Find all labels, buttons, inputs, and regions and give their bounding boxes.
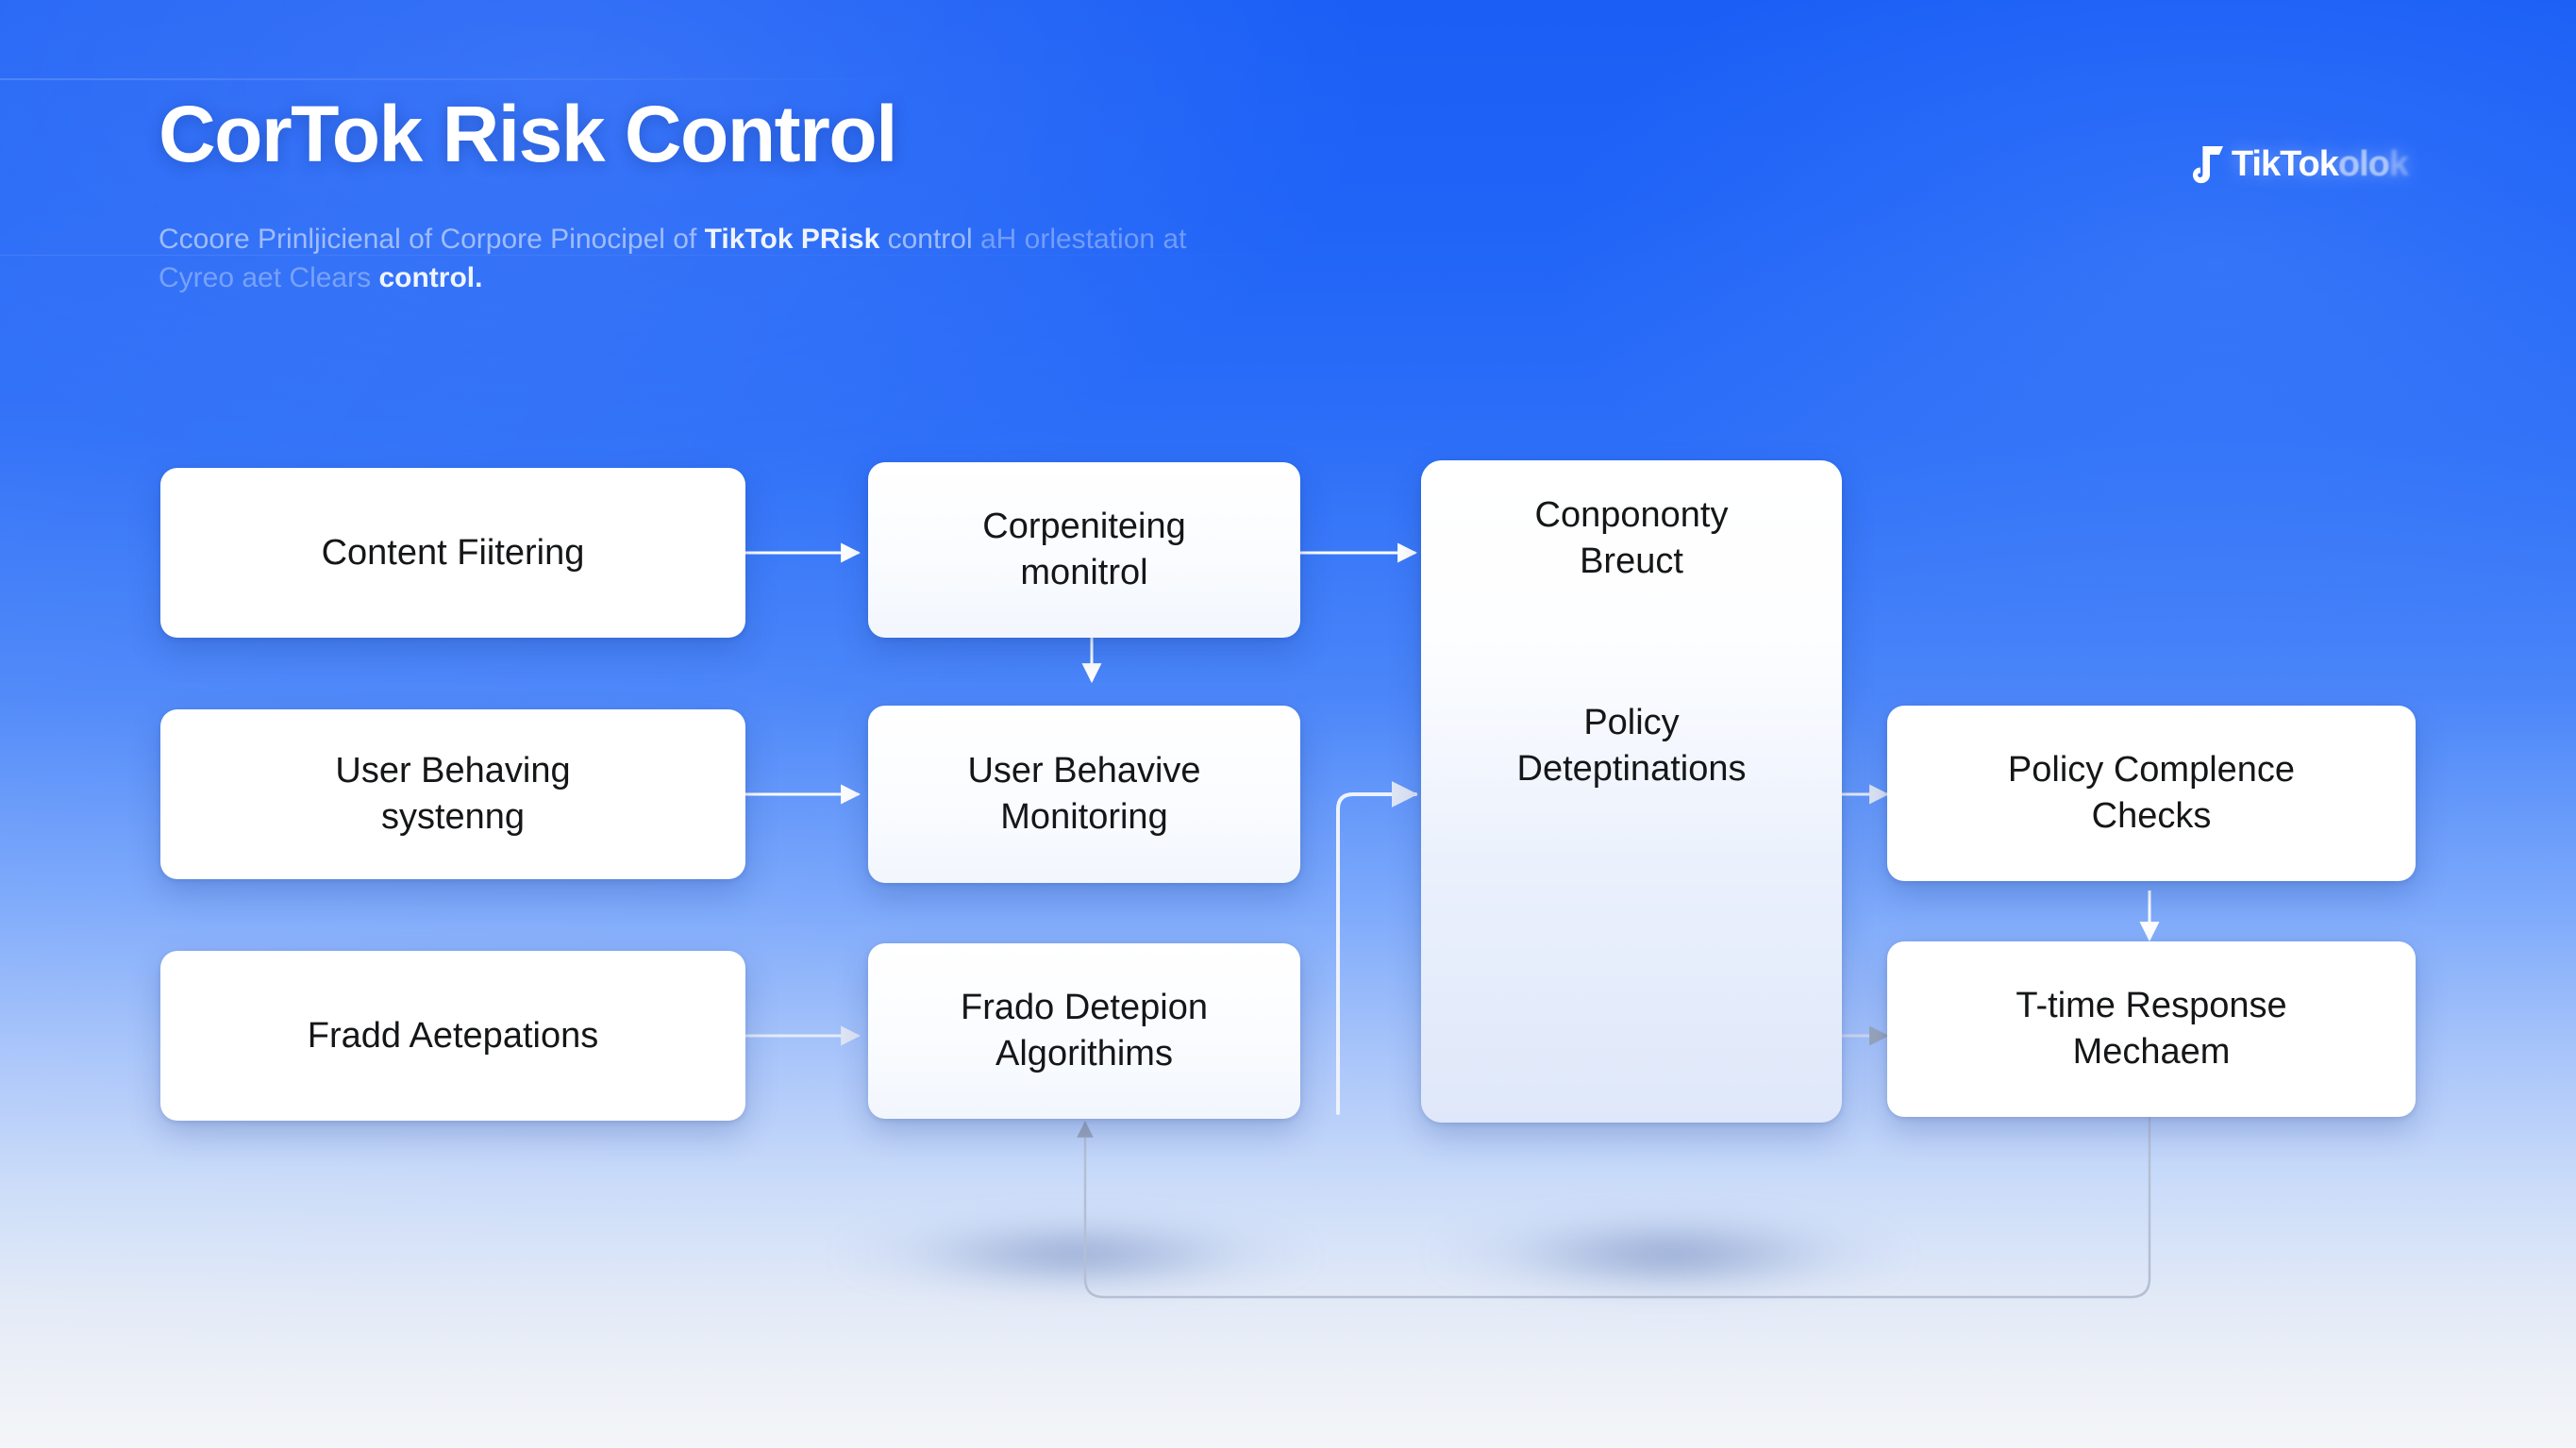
node-fraud-expectations[interactable]: Fradd Aetepations <box>160 951 745 1121</box>
node-label: Policy ComplenceChecks <box>2008 747 2295 839</box>
node-label: User Behavingsystenng <box>335 748 570 840</box>
node-label: Content Fiitering <box>322 530 585 576</box>
slide-canvas: CorTok Risk Control Ccoore Prinljicienal… <box>0 0 2576 1448</box>
node-label: User BehaviveMonitoring <box>967 748 1200 840</box>
node-content-filtering[interactable]: Content Fiitering <box>160 468 745 638</box>
node-competing-control[interactable]: Corpeniteingmonitrol <box>868 462 1300 638</box>
node-behavior-monitoring[interactable]: User BehaviveMonitoring <box>868 706 1300 883</box>
node-user-behaving[interactable]: User Behavingsystenng <box>160 709 745 879</box>
node-policy-hub[interactable]: ConponontyBreuct PolicyDeteptinations <box>1421 460 1842 1123</box>
connector-algorithms-to-hub <box>1338 794 1415 1113</box>
node-label: Frado DetepionAlgorithims <box>961 985 1208 1076</box>
node-realtime-response[interactable]: T-time ResponseMechaem <box>1887 941 2416 1117</box>
connector-response-feedback-loop <box>1085 1113 2149 1297</box>
flow-diagram: Content Fiitering User Behavingsystenng … <box>0 0 2576 1448</box>
node-label: T-time ResponseMechaem <box>2016 983 2286 1074</box>
node-label: Corpeniteingmonitrol <box>982 504 1185 595</box>
hub-subtitle: PolicyDeteptinations <box>1421 700 1842 791</box>
node-fraud-algorithms[interactable]: Frado DetepionAlgorithims <box>868 943 1300 1119</box>
node-policy-compliance[interactable]: Policy ComplenceChecks <box>1887 706 2416 881</box>
hub-title: ConponontyBreuct <box>1421 492 1842 584</box>
node-label: Fradd Aetepations <box>308 1013 598 1059</box>
